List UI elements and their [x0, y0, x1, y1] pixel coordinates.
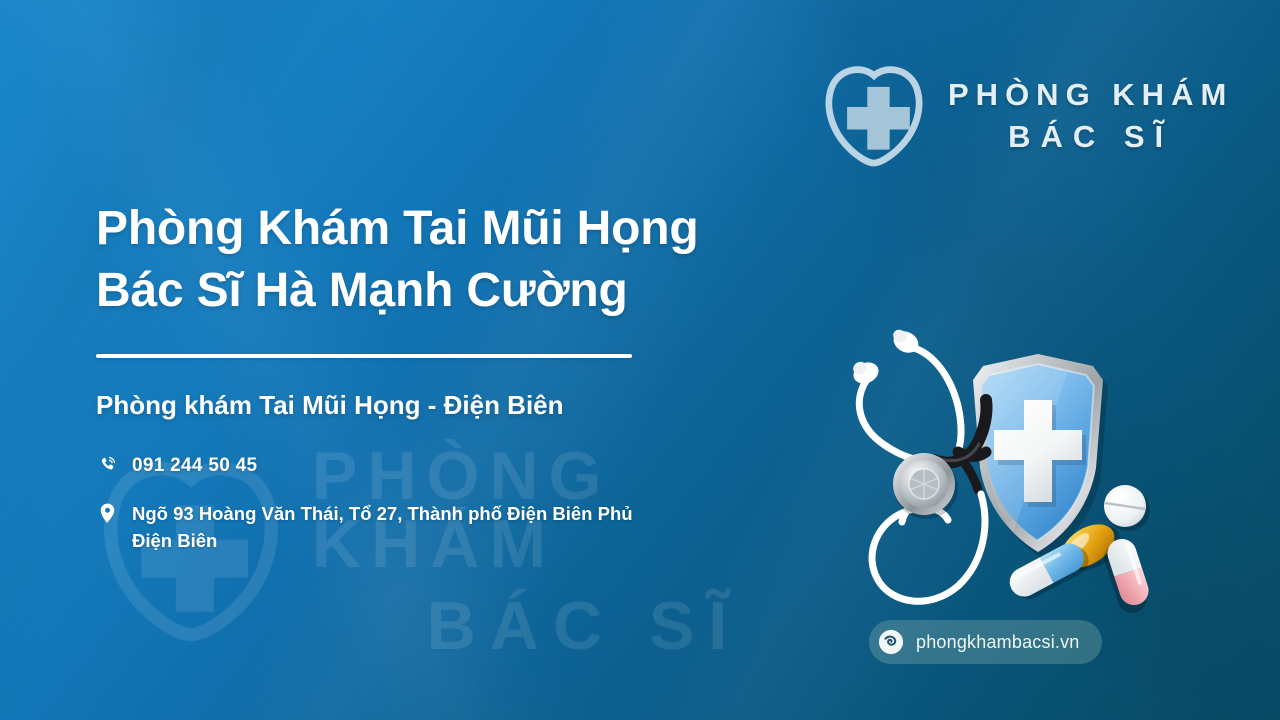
phone-call-icon	[96, 452, 118, 474]
stethoscope-earpieces	[850, 327, 922, 387]
phone-number: 091 244 50 45	[132, 452, 257, 480]
website-url: phongkhambacsi.vn	[916, 632, 1080, 653]
title-divider	[96, 354, 632, 358]
brand-line-1: PHÒNG KHÁM	[948, 79, 1233, 111]
contact-row-address[interactable]: Ngõ 93 Hoàng Văn Thái, Tổ 27, Thành phố …	[96, 500, 856, 555]
map-pin-icon	[96, 500, 118, 524]
globe-icon	[878, 629, 904, 655]
brand-line-2: BÁC SĨ	[1008, 121, 1173, 153]
contact-block: 091 244 50 45 Ngõ 93 Hoàng Văn Thái, Tổ …	[96, 452, 856, 555]
stethoscope-icon	[850, 327, 987, 601]
page-subtitle: Phòng khám Tai Mũi Họng - Điện Biên	[96, 390, 564, 421]
page-title: Phòng Khám Tai Mũi Họng Bác Sĩ Hà Mạnh C…	[96, 198, 698, 323]
brand-logo: PHÒNG KHÁM BÁC SĨ	[818, 60, 1233, 172]
medical-cross-heart-logo-icon	[818, 60, 930, 172]
medical-illustration	[838, 318, 1178, 628]
clinic-banner: PHÒNG KHÁM BÁC SĨ PHÒNG KHÁM BÁC SĨ Phòn…	[0, 0, 1280, 720]
round-tablet-icon	[1104, 485, 1150, 531]
watermark-line-2: BÁC SĨ	[427, 592, 741, 660]
contact-row-phone[interactable]: 091 244 50 45	[96, 452, 856, 480]
address-text: Ngõ 93 Hoàng Văn Thái, Tổ 27, Thành phố …	[132, 500, 633, 555]
